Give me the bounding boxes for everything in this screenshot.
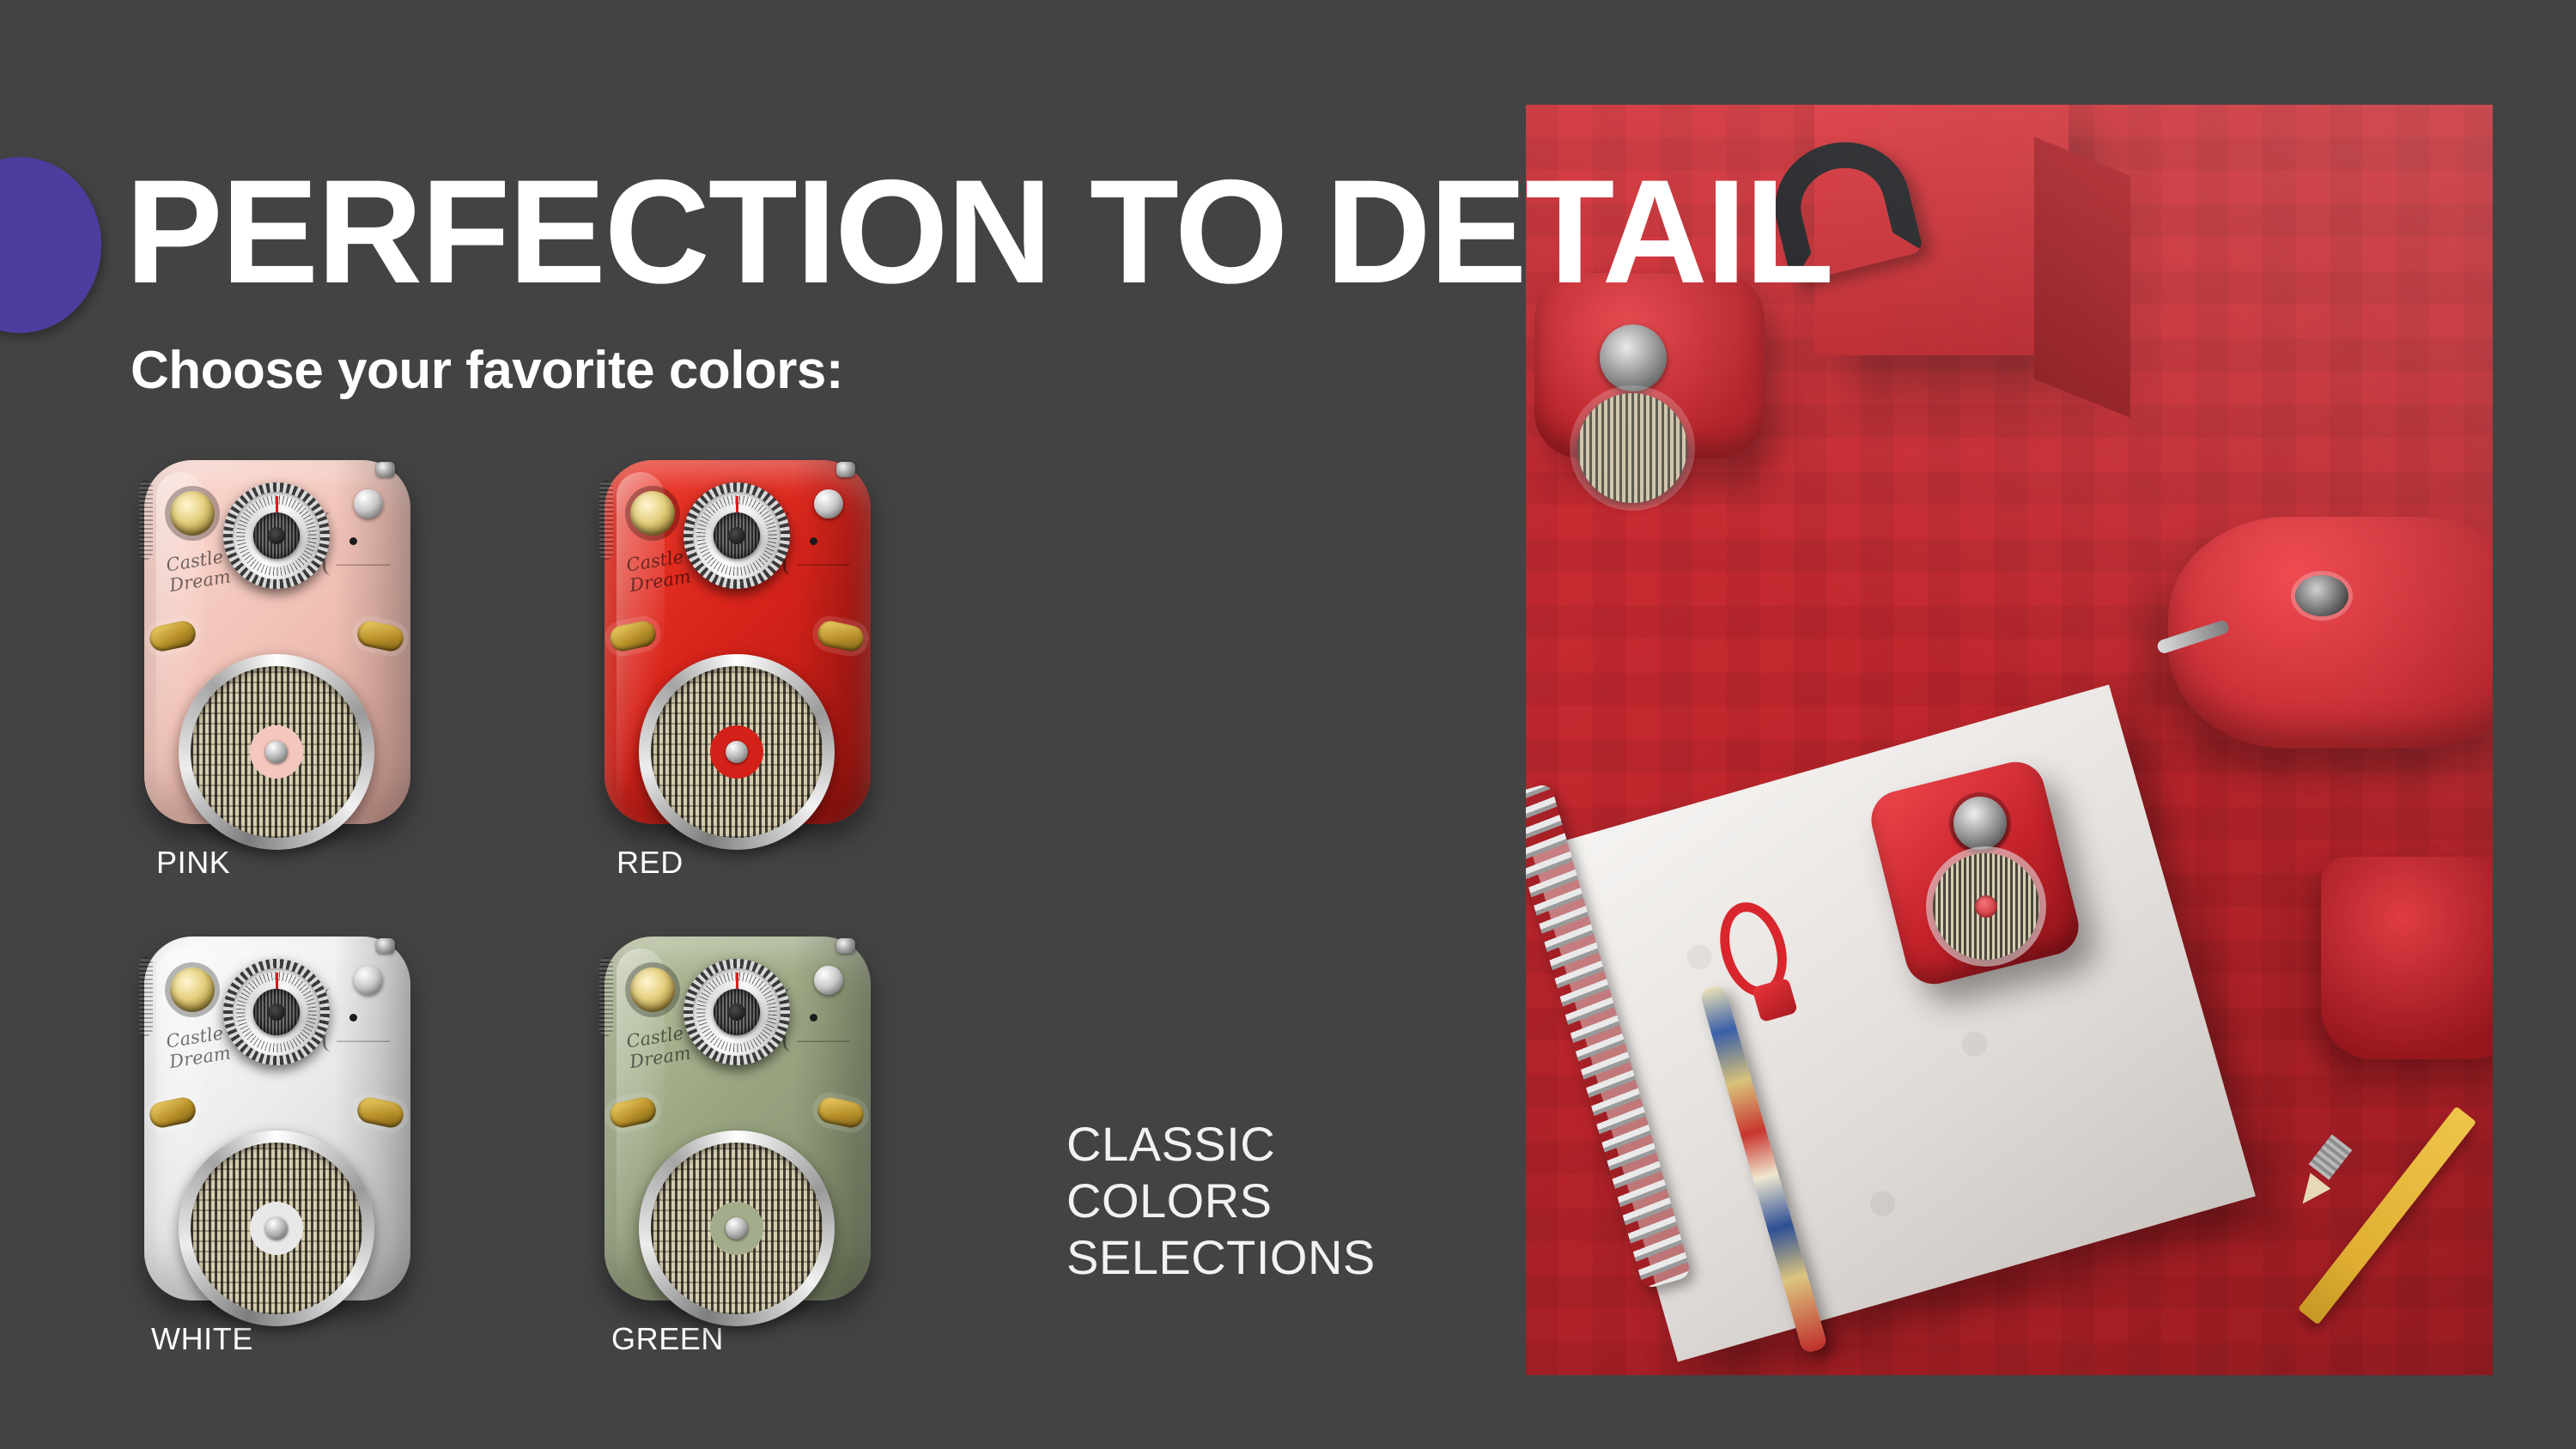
- caption-line-1: CLASSIC: [1066, 1116, 1376, 1173]
- top-nub-icon: [376, 938, 395, 954]
- indicator-lamp-icon: [630, 967, 675, 1012]
- speaker-grille: [639, 654, 835, 850]
- indicator-lamp-icon: [630, 491, 675, 536]
- color-option-white[interactable]: Castle Dream WHITE: [129, 931, 424, 1357]
- mic-dot-icon: [349, 537, 357, 545]
- power-button-icon: [354, 966, 383, 995]
- mic-dot-icon: [810, 537, 817, 545]
- decorative-purple-circle: [0, 157, 101, 333]
- page-subtitle: Choose your favorite colors:: [131, 343, 843, 400]
- indicator-lamp-icon: [170, 967, 215, 1012]
- side-ridges: [139, 481, 153, 560]
- speaker-grille: [179, 654, 374, 850]
- top-nub-icon: [376, 462, 395, 477]
- caption-line-2: COLORS: [1066, 1173, 1376, 1229]
- top-nub-icon: [836, 462, 855, 477]
- fm-label-mark: [337, 551, 390, 580]
- indicator-lamp-icon: [170, 491, 215, 536]
- mic-dot-icon: [810, 1014, 817, 1022]
- classic-colors-caption: CLASSIC COLORS SELECTIONS: [1066, 1116, 1376, 1286]
- power-button-icon: [354, 489, 383, 518]
- caption-line-3: SELECTIONS: [1066, 1229, 1376, 1286]
- power-button-icon: [814, 966, 843, 995]
- speaker-product-image-red: Castle Dream: [589, 455, 884, 831]
- mic-dot-icon: [349, 1014, 357, 1022]
- power-button-icon: [814, 489, 843, 518]
- color-option-red[interactable]: Castle Dream RED: [589, 455, 884, 881]
- color-option-label: RED: [589, 845, 884, 881]
- color-option-label: WHITE: [129, 1321, 424, 1357]
- fm-label-mark: [337, 1028, 390, 1057]
- speaker-product-image-white: Castle Dream: [129, 931, 424, 1307]
- fm-label-mark: [797, 551, 850, 580]
- tuning-dial-icon: [683, 959, 790, 1065]
- side-ridges: [599, 481, 613, 560]
- side-ridges: [139, 957, 153, 1036]
- speaker-product-image-green: Castle Dream: [589, 931, 884, 1307]
- speaker-grille: [179, 1131, 374, 1326]
- fm-label-mark: [797, 1028, 850, 1057]
- speaker-grille: [639, 1131, 835, 1326]
- tuning-dial-icon: [683, 482, 790, 589]
- color-option-pink[interactable]: Castle Dream PINK: [129, 455, 424, 881]
- top-nub-icon: [836, 938, 855, 954]
- page-title: PERFECTION TO DETAIL: [125, 158, 1832, 306]
- side-ridges: [599, 957, 613, 1036]
- color-option-label: GREEN: [589, 1321, 884, 1357]
- color-option-green[interactable]: Castle Dream GREEN: [589, 931, 884, 1357]
- color-option-label: PINK: [129, 845, 424, 881]
- color-options-grid: Castle Dream PINK: [129, 455, 919, 1382]
- tuning-dial-icon: [223, 959, 330, 1065]
- tuning-dial-icon: [223, 482, 330, 589]
- speaker-product-image-pink: Castle Dream: [129, 455, 424, 831]
